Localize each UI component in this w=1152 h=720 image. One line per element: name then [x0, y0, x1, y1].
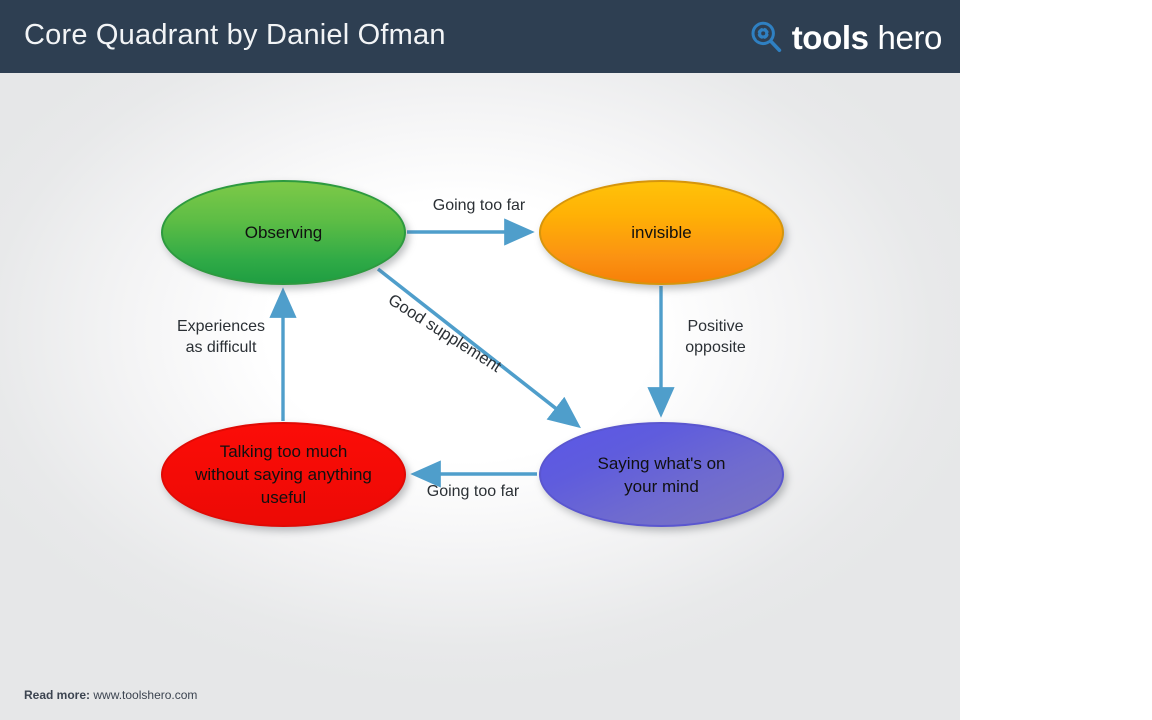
- node-invisible[interactable]: invisible: [539, 180, 784, 285]
- node-saying-whats-on-your-mind[interactable]: Saying what's on your mind: [539, 422, 784, 527]
- node-talking-too-much-label: Talking too much without saying anything…: [181, 440, 386, 509]
- logo-text-tools: tools: [792, 21, 869, 54]
- header-bar: Core Quadrant by Daniel Ofman: [0, 0, 960, 73]
- connector-arrows: [0, 73, 960, 673]
- footer: Read more: www.toolshero.com: [24, 688, 197, 702]
- logo-text-hero: hero: [878, 21, 942, 54]
- toolshero-logo[interactable]: tools hero: [749, 16, 942, 58]
- edge-label-going-too-far-bottom: Going too far: [398, 481, 548, 502]
- node-saying-whats-on-your-mind-label: Saying what's on your mind: [584, 452, 740, 498]
- node-invisible-label: invisible: [617, 221, 705, 244]
- node-observing[interactable]: Observing: [161, 180, 406, 285]
- core-quadrant-diagram: Observing invisible Talking too much wit…: [0, 73, 960, 673]
- node-talking-too-much[interactable]: Talking too much without saying anything…: [161, 422, 406, 527]
- node-observing-label: Observing: [231, 221, 336, 244]
- edge-label-experiences-as-difficult: Experiences as difficult: [146, 316, 296, 358]
- footer-read-more-label: Read more:: [24, 688, 90, 702]
- footer-url[interactable]: www.toolshero.com: [93, 688, 197, 702]
- magnifier-gear-icon: [749, 20, 783, 54]
- edge-label-going-too-far-top: Going too far: [404, 195, 554, 216]
- page-title: Core Quadrant by Daniel Ofman: [24, 19, 446, 52]
- edge-label-positive-opposite: Positive opposite: [648, 316, 783, 358]
- slide: Core Quadrant by Daniel Ofman: [0, 0, 960, 720]
